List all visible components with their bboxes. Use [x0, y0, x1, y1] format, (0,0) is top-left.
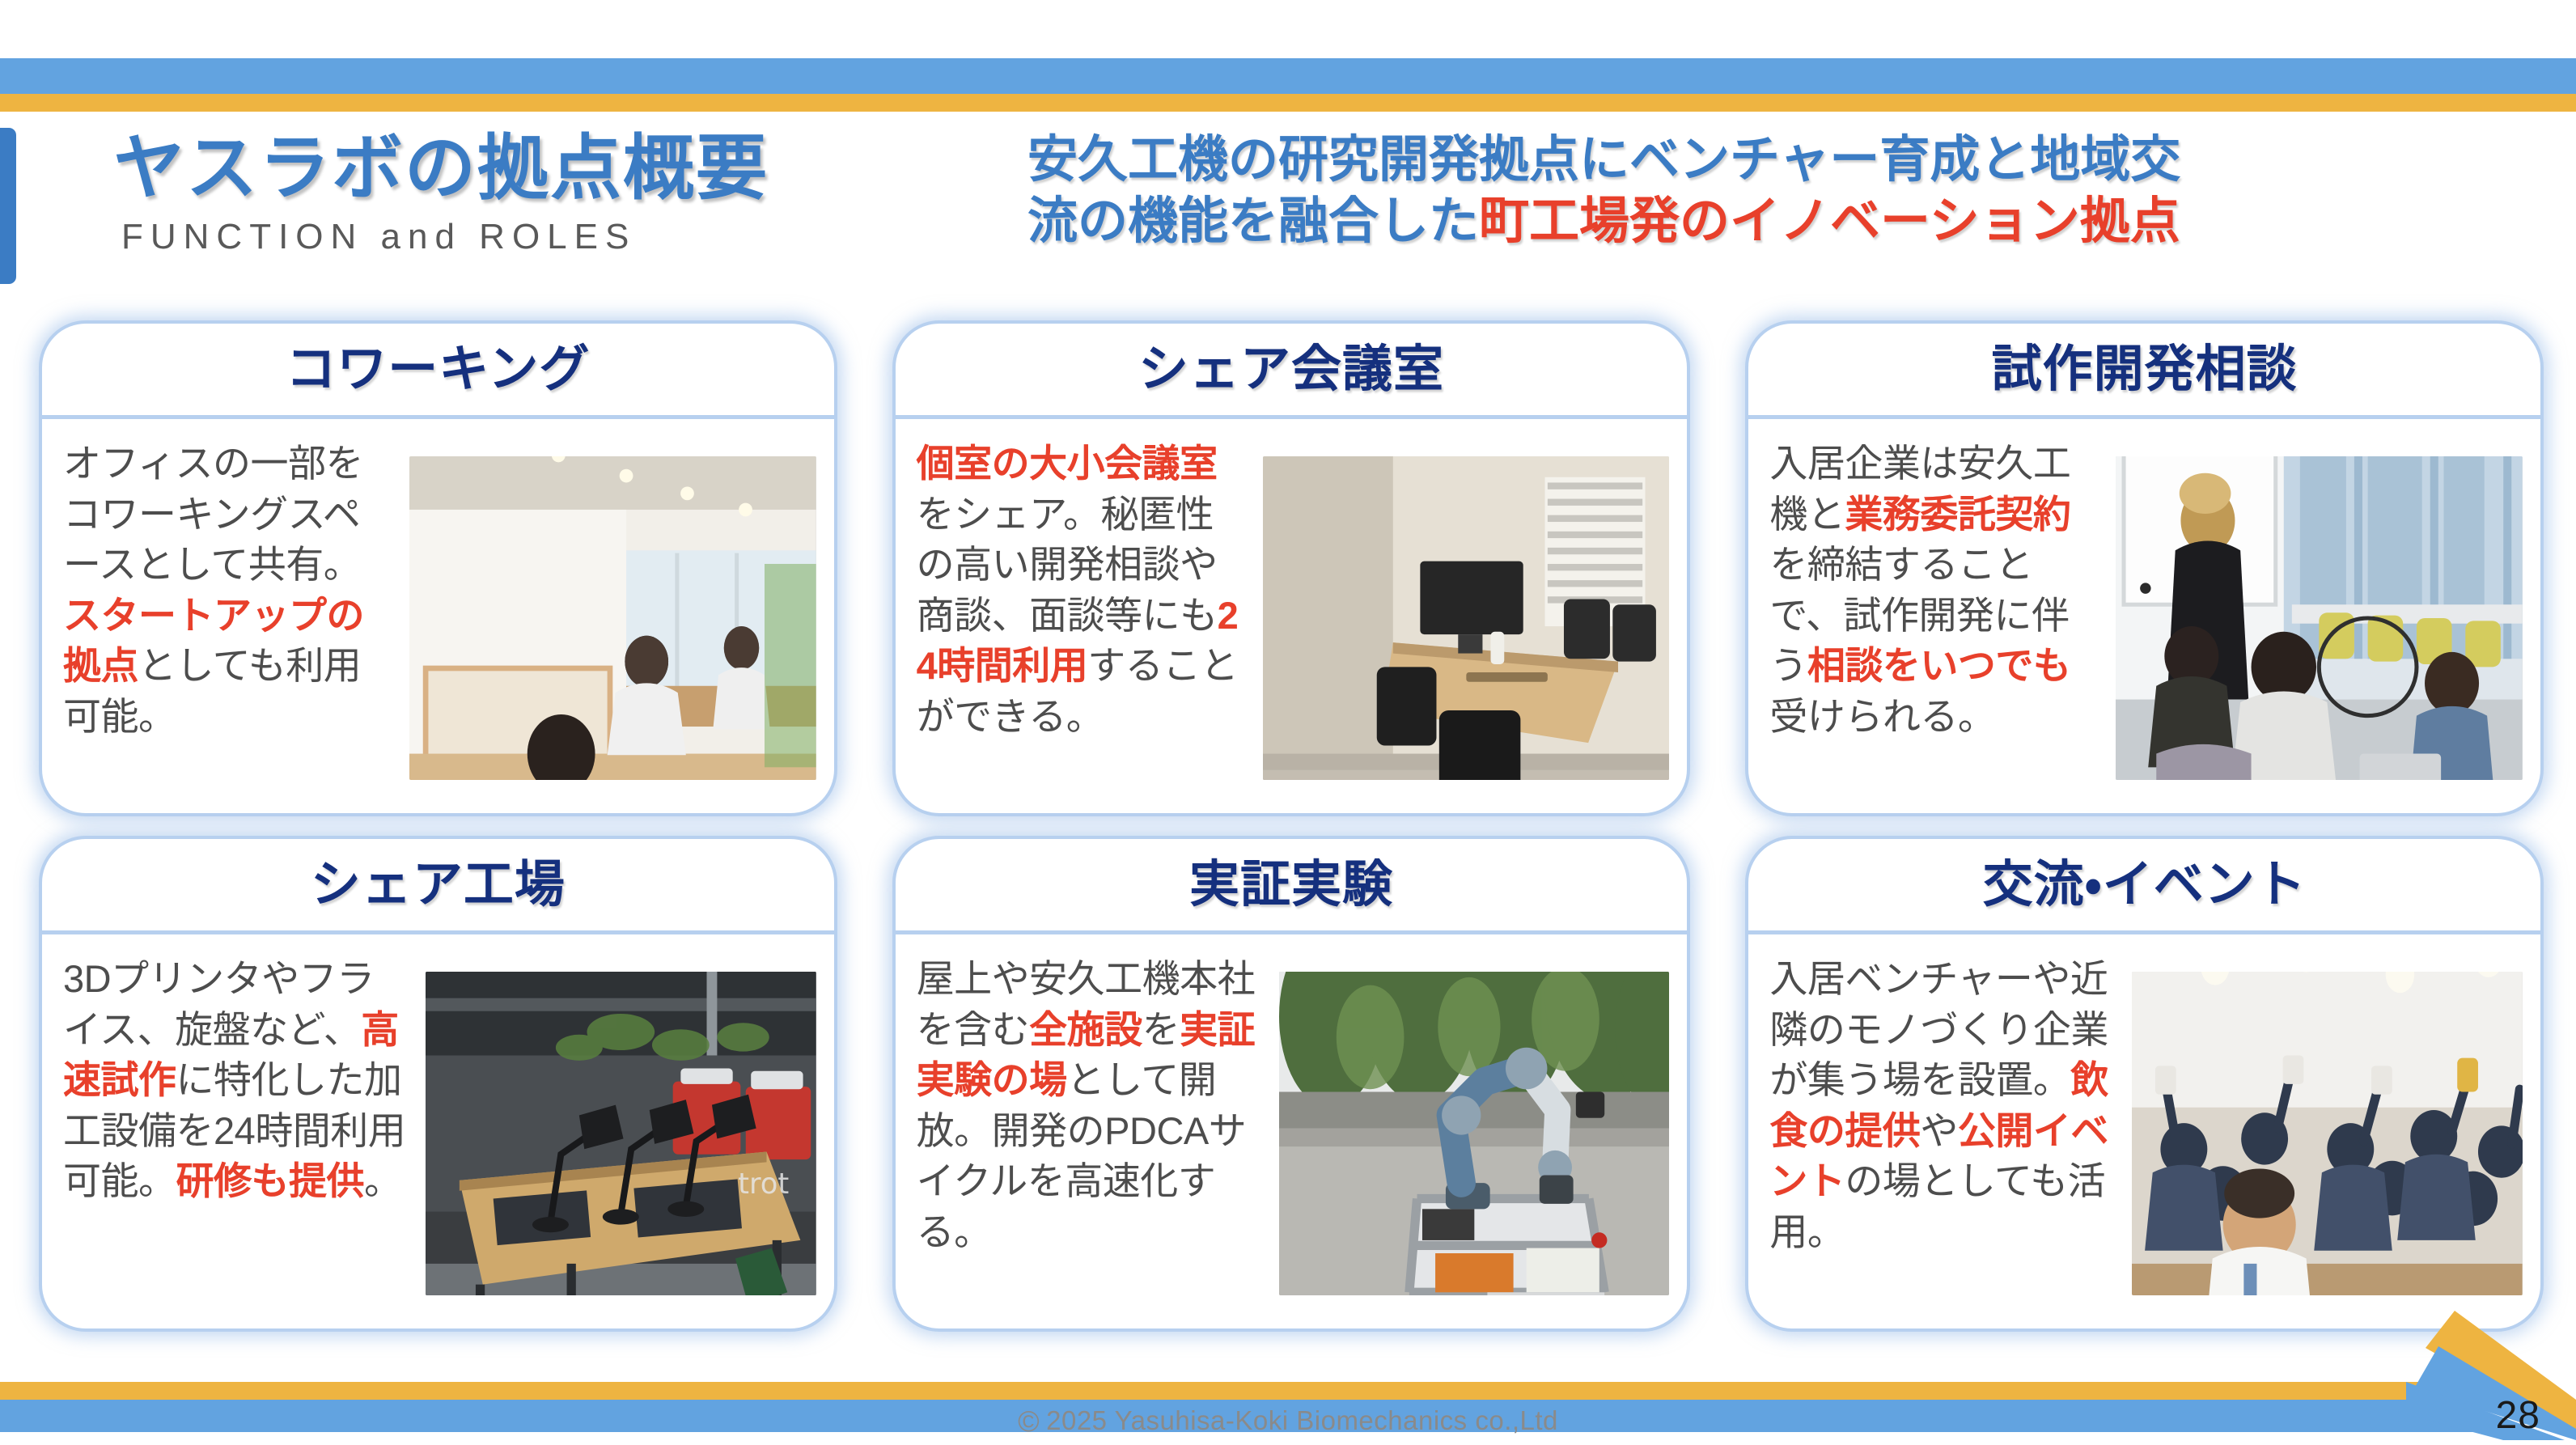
- highlighted-text-run: 個室の大小会議室: [917, 442, 1218, 485]
- card-title: コワーキング: [286, 345, 590, 395]
- lede-statement: 安久工機の研究開発拠点にベンチャー育成と地域交 流の機能を融合した町工場発のイノ…: [1027, 129, 2548, 252]
- robot-arm-cart-photo: [1279, 972, 1670, 1295]
- card-description: 3Dプリンタやフライス、旋盤など、高速試作に特化した加工設備を24時間利用可能。…: [63, 954, 411, 1207]
- top-gold-rule: [0, 94, 2576, 112]
- highlighted-text-run: 相談をいつでも: [1807, 644, 2071, 687]
- card-body: オフィスの一部をコワーキングスペースとして共有。スタートアップの拠点としても利用…: [42, 419, 834, 813]
- card-networking-events[interactable]: 交流・イベント 入居ベンチャーや近隣のモノづくり企業が集う場を設置。飲食の提供や…: [1745, 836, 2544, 1332]
- text-run: 3Dプリンタやフライス、旋盤など、: [63, 957, 375, 1051]
- lede-line-2: 流の機能を融合した町工場発のイノベーション拠点: [1027, 191, 2548, 252]
- copyright-text: 2025 Yasuhisa-Koki Biomechanics co.,Ltd: [1046, 1405, 1558, 1435]
- card-title: シェア工場: [311, 860, 566, 910]
- card-title: 実証実験: [1189, 860, 1393, 910]
- card-title: 交流・イベント: [1983, 860, 2307, 910]
- lede-line-1: 安久工機の研究開発拠点にベンチャー育成と地域交: [1027, 129, 2548, 191]
- card-body: 屋上や安久工機本社を含む全施設を実証実験の場として開放。開発のPDCAサイクルを…: [896, 934, 1688, 1328]
- card-coworking[interactable]: コワーキング オフィスの一部をコワーキングスペースとして共有。スタートアップの拠…: [39, 320, 837, 816]
- text-run: を: [1142, 1008, 1180, 1051]
- svg-text:trot: trot: [738, 1167, 789, 1201]
- coworking-space-photo: [409, 456, 816, 780]
- slide-canvas: ヤスラボの拠点概要 FUNCTION and ROLES 安久工機の研究開発拠点…: [0, 0, 2576, 1445]
- card-header: 交流・イベント: [1748, 839, 2540, 934]
- card-description: 入居ベンチャーや近隣のモノづくり企業が集う場を設置。飲食の提供や公開イベントの場…: [1769, 954, 2117, 1257]
- card-body: 入居ベンチャーや近隣のモノづくり企業が集う場を設置。飲食の提供や公開イベントの場…: [1748, 934, 2540, 1328]
- card-description: 入居企業は安久工機と業務委託契約を締結することで、試作開発に伴う相談をいつでも受…: [1769, 439, 2101, 742]
- card-header: シェア会議室: [896, 324, 1688, 419]
- card-prototype-consulting[interactable]: 試作開発相談 入居企業は安久工機と業務委託契約を締結することで、試作開発に伴う相…: [1745, 320, 2544, 816]
- text-run: オフィスの一部をコワーキングスペースとして共有。: [63, 442, 363, 586]
- text-run: をシェア。秘匿性の高い開発相談や商談、面談等にも: [917, 493, 1218, 637]
- copyright-icon: ©: [1018, 1405, 1040, 1438]
- card-description: 屋上や安久工機本社を含む全施設を実証実験の場として開放。開発のPDCAサイクルを…: [917, 954, 1265, 1257]
- fab-lab-workshop-photo: trot: [426, 972, 816, 1295]
- lede-line-2-highlight: 町工場発のイノベーション拠点: [1479, 193, 2180, 249]
- card-body: 3Dプリンタやフライス、旋盤など、高速試作に特化した加工設備を24時間利用可能。…: [42, 934, 834, 1328]
- networking-event-photo: [2132, 972, 2523, 1295]
- card-title: 試作開発相談: [1992, 345, 2298, 395]
- card-title: シェア会議室: [1138, 345, 1444, 395]
- page-subtitle: FUNCTION and ROLES: [121, 217, 971, 257]
- highlighted-text-run: 全施設: [1029, 1008, 1142, 1051]
- meeting-room-photo: [1263, 456, 1670, 780]
- title-block: ヤスラボの拠点概要 FUNCTION and ROLES: [113, 131, 971, 257]
- lede-line-2-normal: 流の機能を融合した: [1027, 193, 1479, 249]
- text-run: 。: [364, 1159, 402, 1202]
- function-card-grid: コワーキング オフィスの一部をコワーキングスペースとして共有。スタートアップの拠…: [39, 320, 2544, 1332]
- card-description: 個室の大小会議室をシェア。秘匿性の高い開発相談や商談、面談等にも24時間利用する…: [917, 439, 1248, 742]
- card-shared-meeting-room[interactable]: シェア会議室 個室の大小会議室をシェア。秘匿性の高い開発相談や商談、面談等にも2…: [892, 320, 1691, 816]
- card-shared-factory[interactable]: シェア工場 3Dプリンタやフライス、旋盤など、高速試作に特化した加工設備を24時…: [39, 836, 837, 1332]
- card-body: 入居企業は安久工機と業務委託契約を締結することで、試作開発に伴う相談をいつでも受…: [1748, 419, 2540, 813]
- highlighted-text-run: 研修も提供: [176, 1159, 365, 1202]
- card-header: 試作開発相談: [1748, 324, 2540, 419]
- highlighted-text-run: 業務委託契約: [1845, 493, 2070, 536]
- page-number: 28: [2496, 1393, 2540, 1438]
- card-header: シェア工場: [42, 839, 834, 934]
- text-run: 受けられる。: [1769, 695, 1995, 738]
- card-description: オフィスの一部をコワーキングスペースとして共有。スタートアップの拠点としても利用…: [63, 439, 395, 742]
- consulting-meeting-photo: [2116, 456, 2523, 780]
- card-header: コワーキング: [42, 324, 834, 419]
- text-run: や: [1920, 1109, 1958, 1152]
- slide-header: ヤスラボの拠点概要 FUNCTION and ROLES 安久工機の研究開発拠点…: [0, 113, 2576, 307]
- card-header: 実証実験: [896, 839, 1688, 934]
- page-title: ヤスラボの拠点概要: [113, 131, 971, 206]
- card-field-testing[interactable]: 実証実験 屋上や安久工機本社を含む全施設を実証実験の場として開放。開発のPDCA…: [892, 836, 1691, 1332]
- card-body: 個室の大小会議室をシェア。秘匿性の高い開発相談や商談、面談等にも24時間利用する…: [896, 419, 1688, 813]
- bottom-gold-rule: [0, 1382, 2476, 1400]
- text-run: 入居ベンチャーや近隣のモノづくり企業が集う場を設置。: [1769, 957, 2108, 1101]
- top-blue-rule: [0, 58, 2576, 94]
- footer-copyright: ©2025 Yasuhisa-Koki Biomechanics co.,Ltd: [0, 1405, 2576, 1439]
